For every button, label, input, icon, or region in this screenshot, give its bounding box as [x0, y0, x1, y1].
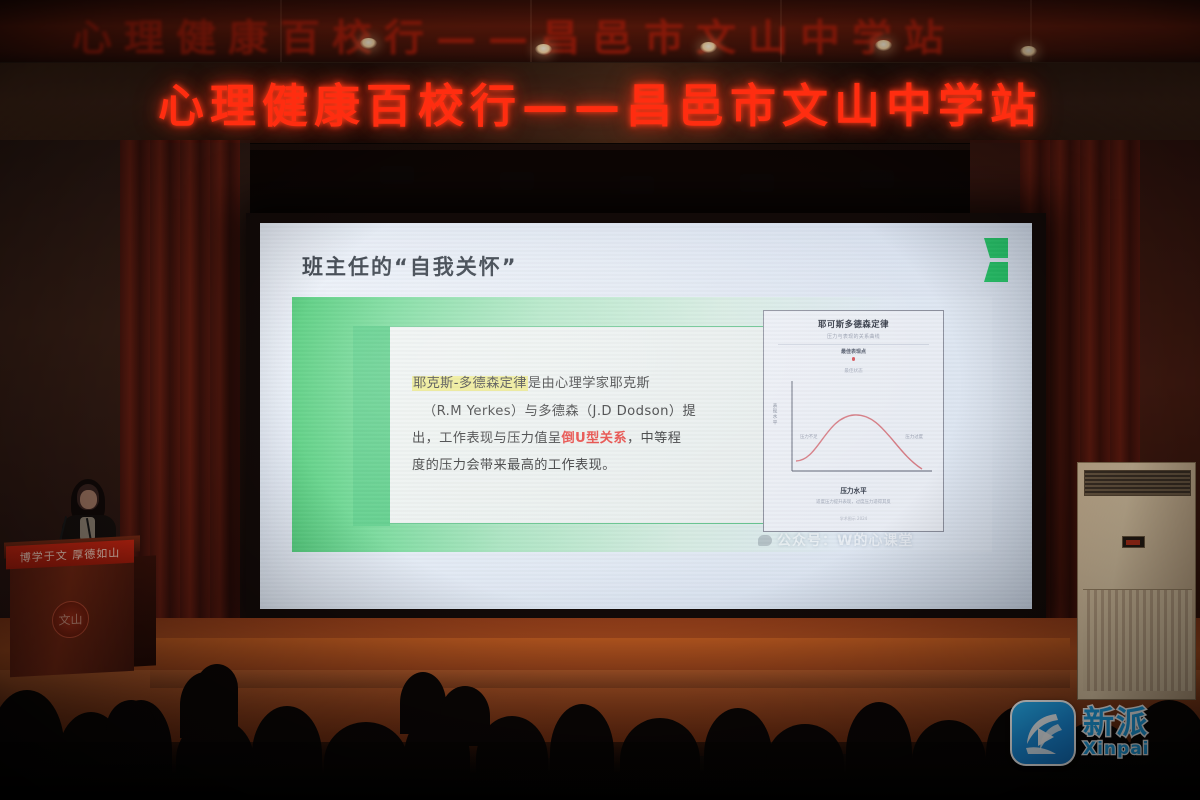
ceiling-panel-line — [530, 0, 532, 62]
slide-title: 班主任的“自我关怀” — [302, 251, 518, 281]
definition-text: 耶克斯-多德森定律是由心理学家耶克斯 （R.M Yerkes）与多德森（J.D … — [354, 370, 722, 480]
definition-line3b: ，中等程 — [627, 431, 681, 446]
ceiling-light — [700, 42, 717, 53]
chart-y-axis-label: 表现水平 — [771, 403, 777, 425]
chart-plot-area: 表现水平 压力不足 压力过度 — [770, 377, 937, 481]
definition-line3a: 出，工作表现与压力值呈 — [412, 431, 561, 446]
ceiling-speaker — [740, 174, 774, 192]
highlighted-term: 耶克斯-多德森定律 — [412, 376, 528, 391]
ceiling-light — [535, 44, 552, 55]
ac-bottom-grille — [1083, 589, 1192, 691]
chart-subtitle: 压力与表现的关系曲线 — [770, 333, 937, 340]
logo-name-en: Xinpai — [1083, 741, 1150, 758]
chat-bubble-icon — [758, 535, 772, 546]
presentation-slide: 班主任的“自我关怀” 耶克斯-多德森定律是由心理学家耶克斯 （R.M Yerke… — [260, 223, 1032, 609]
chart-curve-svg — [770, 377, 939, 481]
chevron-right-icon — [962, 236, 1012, 284]
presenter-face — [80, 490, 97, 509]
ac-display-panel — [1122, 536, 1145, 548]
ceiling-light — [1020, 46, 1037, 57]
led-banner: 心理健康百校行——昌邑市文山中学站 — [0, 62, 1200, 144]
led-banner-text: 心理健康百校行——昌邑市文山中学站 — [158, 70, 1042, 136]
chart-divider — [778, 344, 929, 345]
chart-peak-marker — [852, 357, 856, 361]
swirl-play-icon — [1012, 702, 1074, 764]
chart-footer: 学术图示 2024 — [770, 516, 937, 522]
ac-display-led — [1126, 540, 1140, 545]
chart-annotation-left: 压力不足 — [800, 434, 818, 440]
chart-x-axis-label: 压力水平 — [770, 485, 937, 495]
air-conditioner-unit — [1077, 462, 1196, 700]
audience-member — [440, 686, 490, 746]
broadcaster-logo: 新派 Xinpai — [1010, 700, 1150, 766]
ceiling-speaker — [380, 166, 414, 184]
yerkes-dodson-chart: 耶可斯多德森定律 压力与表现的关系曲线 最佳表现点 最佳状态 表现水平 压力不足… — [763, 310, 944, 532]
ceiling-panel-line — [780, 0, 782, 62]
logo-name-cn: 新派 — [1083, 708, 1150, 739]
ceiling-light — [360, 38, 377, 49]
definition-line2: （R.M Yerkes）与多德森（J.D Dodson）提 — [423, 404, 696, 419]
logo-text: 新派 Xinpai — [1083, 708, 1150, 758]
ceiling-panel-line — [280, 0, 282, 62]
definition-line4: 度的压力会带来最高的工作表现。 — [412, 458, 616, 473]
chart-mid-label: 最佳状态 — [770, 368, 937, 374]
projection-screen: 班主任的“自我关怀” 耶克斯-多德森定律是由心理学家耶克斯 （R.M Yerke… — [246, 213, 1046, 623]
podium-side — [134, 555, 156, 666]
slide-watermark: 公众号：W的心课堂 — [758, 530, 913, 550]
chart-annotation-right: 压力过度 — [905, 434, 923, 440]
watermark-text: 公众号：W的心课堂 — [777, 530, 913, 550]
logo-mark — [1010, 700, 1076, 766]
podium-banner-text: 博学于文 厚德如山 — [20, 544, 121, 565]
definition-line1: 是由心理学家耶克斯 — [528, 376, 650, 391]
chart-title: 耶可斯多德森定律 — [770, 318, 937, 330]
chart-caption: 适度压力提升表现，过度压力适得其反 — [770, 499, 937, 505]
ceiling-speaker — [860, 170, 894, 188]
chart-peak-label: 最佳表现点 — [770, 348, 937, 355]
ac-top-grille — [1084, 470, 1191, 496]
banner-reflection-text: 心理健康百校行——昌邑市文山中学站 — [72, 8, 1132, 56]
audience-member — [196, 664, 238, 712]
emphasis-inverted-u: 倒U型关系 — [561, 431, 626, 446]
ceiling-speaker — [620, 176, 654, 194]
ceiling-light — [875, 40, 892, 51]
auditorium-scene: 心理健康百校行——昌邑市文山中学站 心理健康百校行——昌邑市文山中学站 班主任的… — [0, 0, 1200, 800]
ceiling-speaker — [500, 172, 534, 190]
